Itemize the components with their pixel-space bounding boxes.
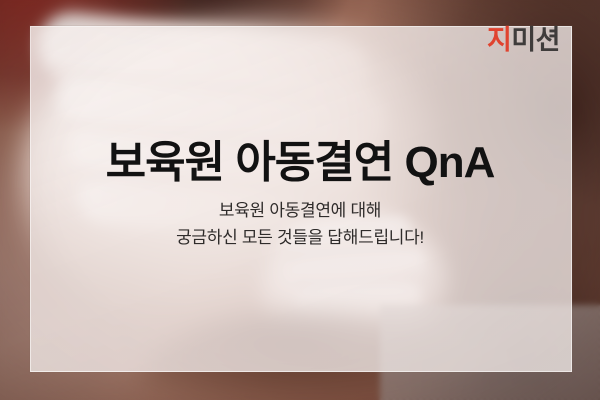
brand-logo-word: 미션 — [511, 25, 560, 55]
page-subtitle: 보육원 아동결연에 대해 궁금하신 모든 것들을 답해드립니다! — [0, 198, 600, 251]
page-subtitle-line-2: 궁금하신 모든 것들을 답해드립니다! — [0, 225, 600, 251]
brand-logo-mark: 지 — [487, 25, 511, 55]
page-subtitle-line-1: 보육원 아동결연에 대해 — [0, 198, 600, 224]
headline-block: 보육원 아동결연 QnA 보육원 아동결연에 대해 궁금하신 모든 것들을 답해… — [0, 138, 600, 251]
brand-logo: 지미션 — [487, 27, 560, 54]
page-title: 보육원 아동결연 QnA — [0, 138, 600, 187]
banner-image: 지미션 보육원 아동결연 QnA 보육원 아동결연에 대해 궁금하신 모든 것들… — [0, 0, 600, 400]
